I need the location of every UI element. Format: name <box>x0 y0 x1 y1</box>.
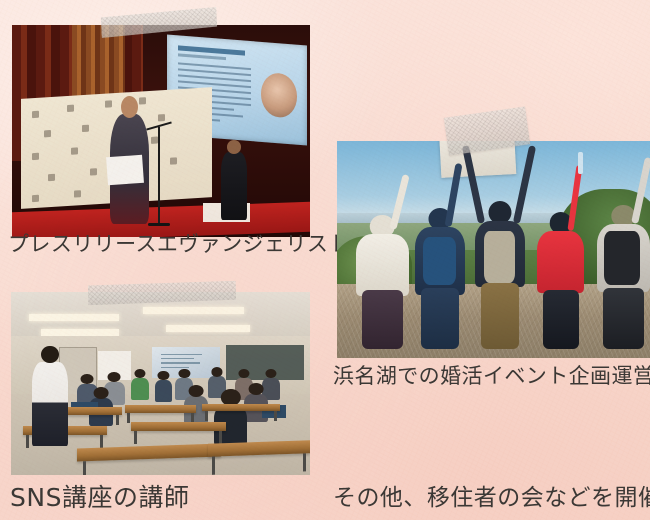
instructor-person <box>32 362 68 446</box>
attendee <box>131 378 149 400</box>
photo-press-release-image <box>12 25 310 237</box>
participant-a <box>356 193 409 349</box>
slide-canvas: プレスリリースエヴァンジェリスト <box>0 0 650 520</box>
photo-press-release[interactable] <box>12 25 310 237</box>
participant-c <box>475 184 525 349</box>
staff-person <box>221 152 248 220</box>
attendee <box>155 380 173 402</box>
caption-press-release: プレスリリースエヴァンジェリスト <box>8 228 350 258</box>
caption-sns-seminar: SNS講座の講師 <box>10 478 189 514</box>
caption-other-activities: その他、移住者の会などを開催 <box>333 478 650 512</box>
participant-d <box>537 193 584 349</box>
caption-hamanako-event: 浜名湖での婚活イベント企画運営 <box>333 360 650 390</box>
participant-b <box>415 189 465 350</box>
photo-hamanako-event[interactable] <box>337 141 650 358</box>
photo-sns-seminar[interactable] <box>11 292 310 475</box>
photo-sns-seminar-image <box>11 292 310 475</box>
microphone-stand <box>158 127 160 225</box>
photo-hamanako-event-image <box>337 141 650 358</box>
participant-e <box>597 189 650 350</box>
handmade-sign <box>439 141 517 178</box>
